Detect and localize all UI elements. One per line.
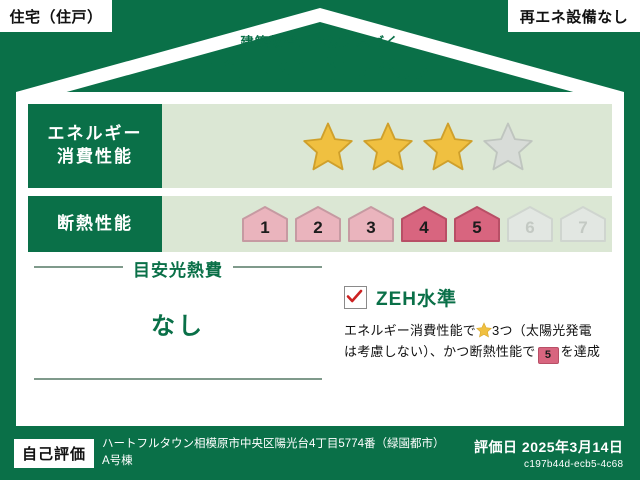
- check-icon: [346, 288, 363, 305]
- utility-cost-title-text: 目安光熱費: [123, 261, 233, 280]
- energy-performance-label: エネルギー 消費性能: [28, 104, 162, 188]
- energy-label-line2: 消費性能: [57, 146, 133, 169]
- insulation-level-number: 5: [472, 218, 481, 244]
- evaluation-id: c197b44d-ecb5-4c68: [474, 459, 623, 470]
- insulation-level-3: 3: [346, 204, 396, 244]
- star-rating: [182, 121, 534, 171]
- insulation-performance-row: 断熱性能 1234567: [28, 196, 612, 252]
- zeh-desc-stars: 3つ（太陽光発電: [492, 323, 592, 338]
- lower-section: 目安光熱費 なし ZEH水準 エネルギー消費性能で3つ（太陽光発電 は考慮しな: [28, 262, 612, 412]
- address-line-1: ハートフルタウン相模原市中央区陽光台4丁目5774番（緑園都市）: [102, 436, 474, 453]
- star-filled-icon: [362, 121, 414, 171]
- zeh-desc-part1: エネルギー消費性能で: [344, 323, 476, 338]
- energy-performance-label: 住宅（住戸） 再エネ設備なし 建築物省エネ法に基づく 省エネ性能ラベル エネルギ…: [0, 0, 640, 480]
- header: 建築物省エネ法に基づく 省エネ性能ラベル: [0, 36, 640, 85]
- insulation-level-number: 2: [313, 218, 322, 244]
- utility-cost-value: なし: [28, 306, 328, 341]
- utility-cost-section: 目安光熱費 なし: [28, 262, 328, 412]
- insulation-level-number: 1: [260, 218, 269, 244]
- zeh-header: ZEH水準: [344, 284, 612, 311]
- zeh-section: ZEH水準 エネルギー消費性能で3つ（太陽光発電 は考慮しない）、かつ断熱性能で…: [328, 262, 612, 412]
- insulation-level-5: 5: [452, 204, 502, 244]
- insulation-level-number: 4: [419, 218, 428, 244]
- zeh-desc-badge: 5: [538, 347, 559, 364]
- property-address: ハートフルタウン相模原市中央区陽光台4丁目5774番（緑園都市） A号棟: [102, 436, 474, 469]
- insulation-level-7: 7: [558, 204, 608, 244]
- header-subtitle: 建築物省エネ法に基づく: [0, 36, 640, 51]
- evaluation-meta: 評価日 2025年3月14日 c197b44d-ecb5-4c68: [474, 437, 623, 470]
- label-card: エネルギー 消費性能 断熱性能 1234567 目安光熱費 なし: [16, 92, 624, 426]
- insulation-level-2: 2: [293, 204, 343, 244]
- insulation-level-number: 6: [525, 218, 534, 244]
- energy-label-line1: エネルギー: [48, 123, 143, 146]
- energy-performance-row: エネルギー 消費性能: [28, 104, 612, 188]
- page-title: 省エネ性能ラベル: [0, 53, 640, 86]
- tag-building-type: 住宅（住戸）: [0, 0, 112, 32]
- cost-divider-bottom: [34, 378, 322, 380]
- insulation-performance-value: 1234567: [162, 196, 612, 252]
- insulation-label-line1: 断熱性能: [57, 213, 133, 236]
- insulation-level-6: 6: [505, 204, 555, 244]
- zeh-checkbox[interactable]: [344, 286, 367, 309]
- insulation-level-number: 7: [578, 218, 587, 244]
- zeh-desc-part2: は考慮しない）、かつ断熱性能で: [344, 344, 536, 359]
- insulation-level-scale: 1234567: [182, 204, 608, 244]
- insulation-performance-label: 断熱性能: [28, 196, 162, 252]
- evaluation-date: 評価日 2025年3月14日: [474, 437, 623, 457]
- insulation-level-4: 4: [399, 204, 449, 244]
- footer: 自己評価 ハートフルタウン相模原市中央区陽光台4丁目5774番（緑園都市） A号…: [0, 426, 640, 480]
- tag-renewable-energy: 再エネ設備なし: [508, 0, 640, 32]
- energy-performance-value: [162, 104, 612, 188]
- self-evaluation-badge: 自己評価: [14, 439, 94, 468]
- utility-cost-title: 目安光熱費: [28, 256, 328, 281]
- insulation-level-1: 1: [240, 204, 290, 244]
- star-empty-icon: [482, 121, 534, 171]
- zeh-description: エネルギー消費性能で3つ（太陽光発電 は考慮しない）、かつ断熱性能で5を達成: [344, 320, 612, 364]
- star-filled-icon: [302, 121, 354, 171]
- star-filled-icon: [422, 121, 474, 171]
- address-line-2: A号棟: [102, 453, 474, 470]
- inline-star-icon: [476, 322, 492, 338]
- insulation-level-number: 3: [366, 218, 375, 244]
- zeh-desc-part3: を達成: [561, 344, 601, 359]
- zeh-title: ZEH水準: [376, 284, 457, 311]
